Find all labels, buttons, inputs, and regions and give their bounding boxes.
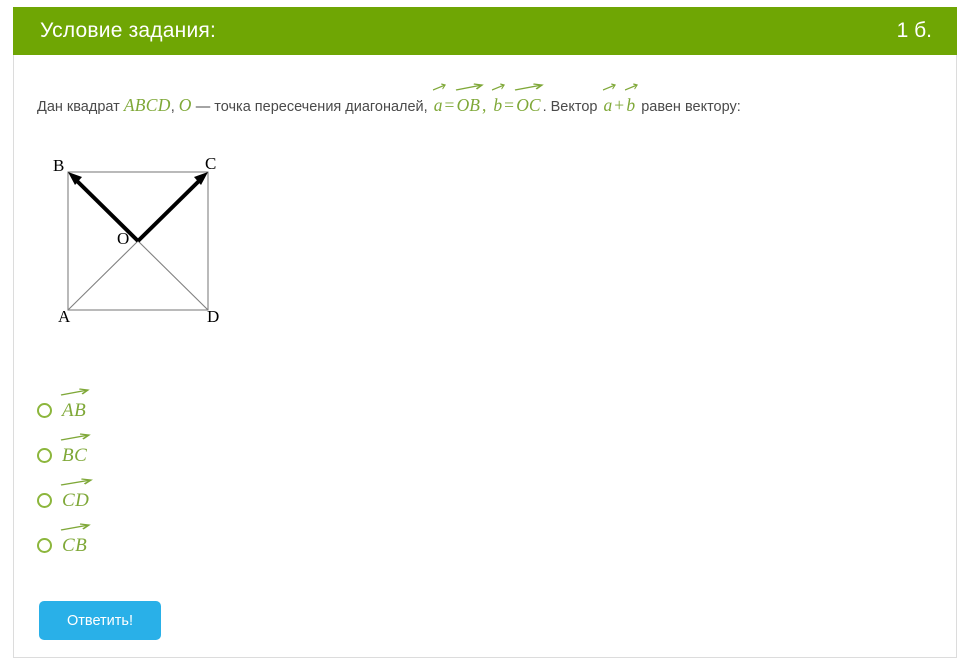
- vector-b-1: b: [492, 95, 503, 115]
- answer-options: AB BC CD CB: [37, 388, 437, 568]
- radio-button-icon-3[interactable]: [37, 538, 52, 553]
- vector-a-1-letters: a: [434, 95, 443, 115]
- figure-label-o: O: [117, 229, 129, 249]
- vector-a-2-letters: a: [604, 95, 613, 115]
- option-letters-0: AB: [62, 400, 86, 422]
- equals-sign-1: =: [444, 95, 454, 115]
- page-title: Условие задания:: [40, 19, 216, 43]
- vector-b-2-letters: b: [626, 95, 635, 115]
- option-label-2: CD: [61, 490, 90, 512]
- radio-button-icon-2[interactable]: [37, 493, 52, 508]
- option-letters-3: CB: [62, 535, 87, 557]
- vector-arrow-icon: [61, 479, 92, 487]
- vector-ob-letters: OB: [457, 95, 480, 115]
- points-badge: 1 б.: [897, 19, 932, 43]
- vector-oc: OC: [515, 95, 541, 115]
- question-comma-2: ,: [482, 95, 491, 115]
- task-page: Условие задания: 1 б. Дан квадрат ABCD, …: [0, 0, 970, 665]
- vector-a-1: a: [433, 95, 444, 115]
- option-0[interactable]: AB: [37, 388, 437, 433]
- option-letters-2: CD: [62, 490, 89, 512]
- vector-arrow-icon: [61, 389, 89, 397]
- submit-button[interactable]: Ответить!: [39, 601, 161, 640]
- question-comma-1: ,: [171, 99, 179, 115]
- figure-svg: [32, 143, 262, 333]
- vector-oc-letters: OC: [516, 95, 540, 115]
- radio-button-icon-1[interactable]: [37, 448, 52, 463]
- vector-oc-line: [138, 179, 201, 241]
- option-label-3: CB: [61, 535, 88, 557]
- vector-ob: OB: [456, 95, 481, 115]
- vector-arrow-icon: [61, 524, 90, 532]
- task-header: Условие задания: 1 б.: [13, 7, 957, 55]
- equals-sign-2: =: [504, 95, 514, 115]
- figure-label-b: B: [53, 156, 64, 176]
- figure-label-a: A: [58, 307, 70, 327]
- option-label-1: BC: [61, 445, 88, 467]
- option-3[interactable]: CB: [37, 523, 437, 568]
- plus-sign: +: [614, 95, 624, 115]
- figure-label-d: D: [207, 307, 219, 327]
- question-text: Дан квадрат ABCD, O — точка пересечения …: [37, 95, 937, 117]
- square-name: ABCD: [124, 95, 171, 115]
- question-part-3: . Вектор: [543, 99, 602, 115]
- question-part-4: равен вектору:: [637, 99, 741, 115]
- option-label-0: AB: [61, 400, 87, 422]
- question-part-1: Дан квадрат: [37, 99, 124, 115]
- vector-b-2: b: [625, 95, 636, 115]
- option-letters-1: BC: [62, 445, 87, 467]
- figure-label-c: C: [205, 154, 216, 174]
- geometry-figure: B C O A D: [32, 143, 262, 333]
- vector-arrow-icon: [61, 434, 90, 442]
- vector-a-2: a: [603, 95, 614, 115]
- question-part-2: — точка пересечения диагоналей,: [192, 99, 432, 115]
- vector-b-1-letters: b: [493, 95, 502, 115]
- option-2[interactable]: CD: [37, 478, 437, 523]
- option-1[interactable]: BC: [37, 433, 437, 478]
- point-name: O: [179, 95, 192, 115]
- radio-button-icon-0[interactable]: [37, 403, 52, 418]
